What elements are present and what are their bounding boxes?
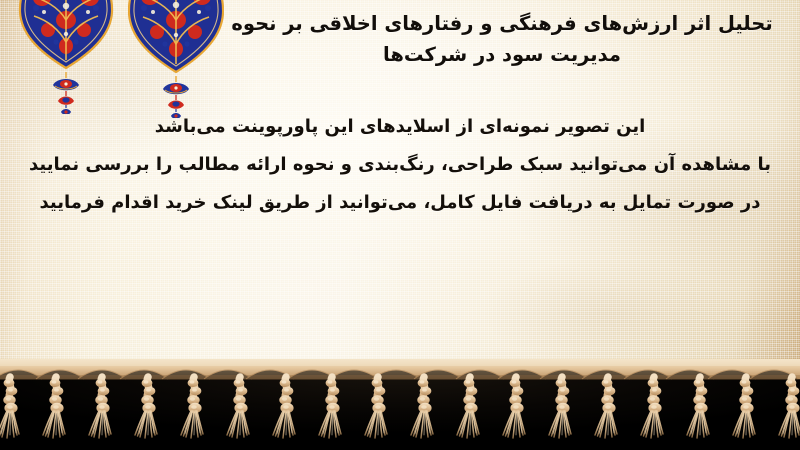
linen-weave-texture [0, 0, 800, 372]
fringe-tassels [0, 355, 800, 450]
carpet-fringe-band [0, 355, 800, 450]
fringe-bottom-edge [0, 446, 800, 450]
fabric-mottling [0, 0, 800, 372]
presentation-slide: تحلیل اثر ارزش‌های فرهنگی و رفتارهای اخل… [0, 0, 800, 450]
canvas-background [0, 0, 800, 372]
